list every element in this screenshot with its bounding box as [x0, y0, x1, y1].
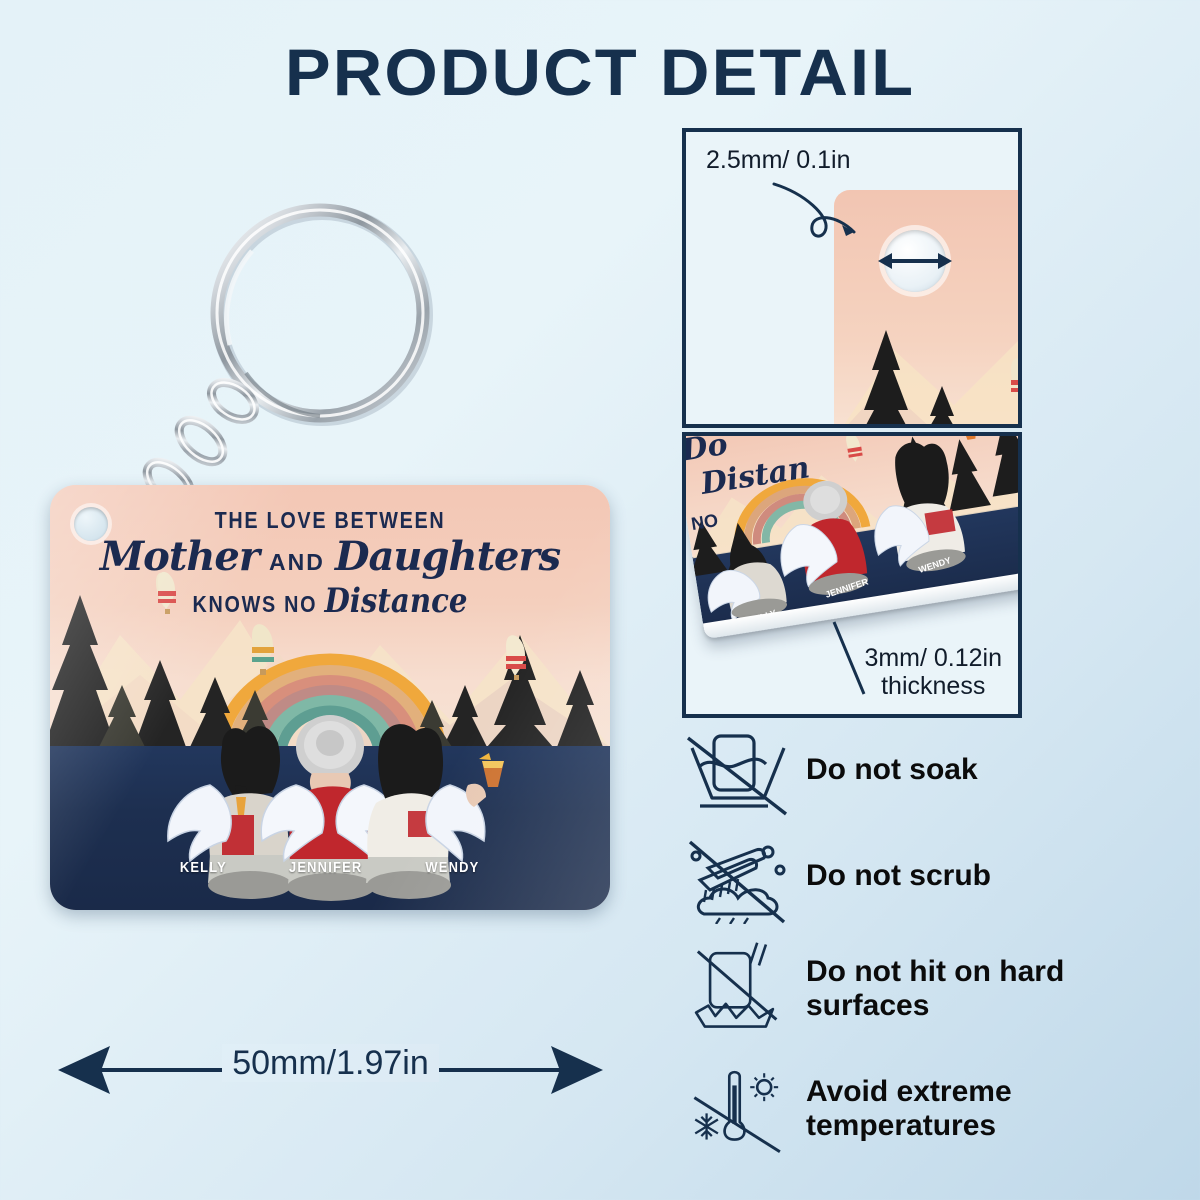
care-row-2: Do not scrub [682, 828, 1152, 924]
name-1: KELLY [180, 859, 227, 876]
product-detail-page: PRODUCT DETAIL [0, 0, 1200, 1200]
care-row-1: Do not soak [682, 722, 1152, 818]
quote-line-3: KNOWS NO Distance [89, 581, 571, 621]
name-3: WENDY [425, 859, 479, 876]
no-extreme-temp-icon [682, 1061, 794, 1157]
hole-size-label: 2.5mm/ 0.1in [706, 146, 851, 175]
care-label-1: Do not soak [794, 753, 978, 787]
quote-daughters: Daughters [335, 533, 560, 580]
quote-distance: Distance [324, 581, 467, 621]
care-label-2: Do not scrub [794, 859, 991, 893]
no-soak-icon [682, 722, 794, 818]
care-instructions: Do not soak [682, 722, 1152, 1174]
thickness-word: thickness [864, 673, 1002, 701]
thickness-detail-panel: Do Distan NO [682, 432, 1022, 718]
width-dimension: 50mm/1.97in [58, 1040, 603, 1100]
page-title: PRODUCT DETAIL [0, 34, 1200, 110]
quote-line-1: THE LOVE BETWEEN [89, 507, 571, 534]
thickness-label: 3mm/ 0.12in thickness [864, 645, 1002, 700]
quote-mother: Mother [100, 533, 259, 580]
thickness-value: 3mm/ 0.12in [864, 645, 1002, 673]
quote-and: AND [269, 549, 325, 575]
keychain-quote: THE LOVE BETWEEN Mother AND Daughters KN… [50, 507, 610, 621]
care-label-4: Avoid extreme temperatures [794, 1075, 1152, 1142]
width-label-wrap: 50mm/1.97in [58, 1044, 603, 1083]
quote-knows-no: KNOWS NO [192, 591, 317, 617]
keychain-front-view: THE LOVE BETWEEN Mother AND Daughters KN… [50, 485, 610, 910]
width-label: 50mm/1.97in [222, 1044, 439, 1082]
keychain-hole [74, 507, 108, 541]
care-label-3: Do not hit on hard surfaces [794, 955, 1152, 1022]
name-2: JENNIFER [289, 859, 362, 876]
hole-detail-panel: M K 2.5mm/ 0.1in [682, 128, 1022, 428]
personalized-names: KELLY JENNIFER WENDY [50, 859, 610, 876]
care-row-3: Do not hit on hard surfaces [682, 934, 1152, 1044]
hole-callout-arrow-icon [686, 132, 1018, 424]
care-row-4: Avoid extreme temperatures [682, 1054, 1152, 1164]
no-scrub-icon [682, 828, 794, 924]
quote-line-2: Mother AND Daughters [50, 536, 610, 578]
no-hit-icon [682, 941, 794, 1037]
